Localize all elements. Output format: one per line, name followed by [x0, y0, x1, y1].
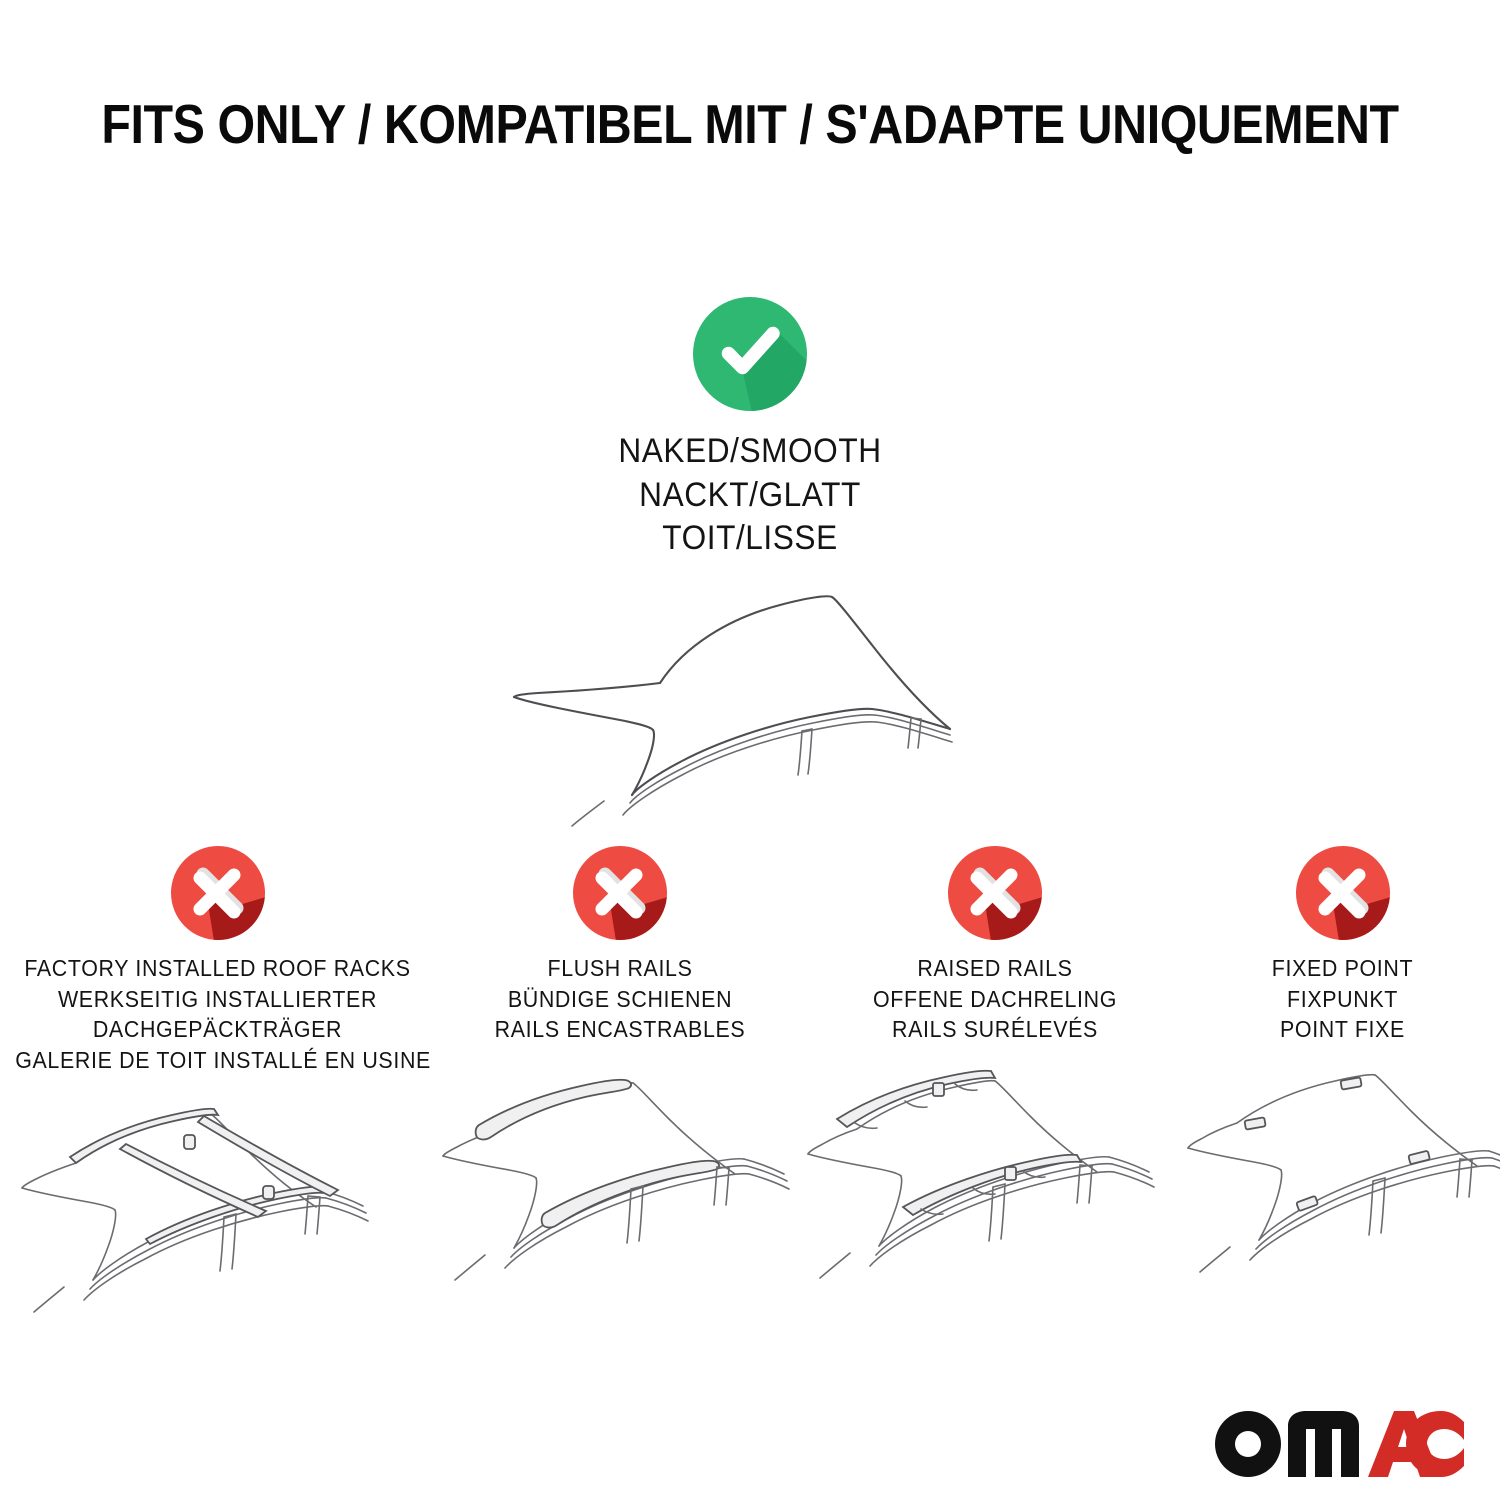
incompatible-label-de-2: DACHGEPÄCKTRÄGER	[15, 1014, 420, 1045]
raised-rails-illustration	[805, 1061, 1185, 1291]
naked-smooth-roof-illustration	[0, 583, 1500, 843]
omac-logo	[1208, 1398, 1470, 1480]
x-circle-icon	[947, 845, 1043, 941]
incompatible-item-flush-rails: FLUSH RAILS BÜNDIGE SCHIENEN RAILS ENCAS…	[435, 845, 805, 1291]
incompatible-label-fr: GALERIE DE TOIT INSTALLÉ EN USINE	[15, 1045, 420, 1076]
fixed-point-illustration	[1185, 1061, 1500, 1291]
compatible-section: NAKED/SMOOTH NACKT/GLATT TOIT/LISSE	[0, 296, 1500, 843]
factory-roof-rack-illustration	[0, 1091, 435, 1321]
check-circle-icon	[692, 296, 808, 412]
page-title: FITS ONLY / KOMPATIBEL MIT / S'ADAPTE UN…	[90, 96, 1410, 154]
incompatible-item-fixed-point: FIXED POINT FIXPUNKT POINT FIXE	[1185, 845, 1500, 1291]
incompatible-item-factory-racks: FACTORY INSTALLED ROOF RACKS WERKSEITIG …	[0, 845, 435, 1321]
incompatible-label-fr: RAILS SURÉLEVÉS	[818, 1014, 1171, 1045]
flush-rails-illustration	[435, 1061, 805, 1291]
compatible-label-fr: TOIT/LISSE	[53, 517, 1448, 561]
x-circle-icon	[1295, 845, 1391, 941]
incompatible-label-en: FLUSH RAILS	[448, 953, 792, 984]
incompatible-section: FACTORY INSTALLED ROOF RACKS WERKSEITIG …	[0, 845, 1500, 1321]
incompatible-label-de-1: WERKSEITIG INSTALLIERTER	[15, 984, 420, 1015]
page-header: FITS ONLY / KOMPATIBEL MIT / S'ADAPTE UN…	[0, 96, 1500, 154]
compatible-label-de: NACKT/GLATT	[53, 474, 1448, 518]
incompatible-item-raised-rails: RAISED RAILS OFFENE DACHRELING RAILS SUR…	[805, 845, 1185, 1291]
x-circle-icon	[170, 845, 266, 941]
incompatible-label-group: RAISED RAILS OFFENE DACHRELING RAILS SUR…	[818, 953, 1171, 1045]
incompatible-label-group: FACTORY INSTALLED ROOF RACKS WERKSEITIG …	[15, 953, 420, 1075]
incompatible-label-de: OFFENE DACHRELING	[818, 984, 1171, 1015]
compatible-label-en: NAKED/SMOOTH	[53, 430, 1448, 474]
incompatible-label-group: FLUSH RAILS BÜNDIGE SCHIENEN RAILS ENCAS…	[448, 953, 792, 1045]
incompatible-label-de: FIXPUNKT	[1196, 984, 1489, 1015]
incompatible-label-en: RAISED RAILS	[818, 953, 1171, 984]
incompatible-label-fr: RAILS ENCASTRABLES	[448, 1014, 792, 1045]
incompatible-label-en: FACTORY INSTALLED ROOF RACKS	[15, 953, 420, 984]
compatible-label-group: NAKED/SMOOTH NACKT/GLATT TOIT/LISSE	[53, 430, 1448, 561]
incompatible-label-fr: POINT FIXE	[1196, 1014, 1489, 1045]
x-circle-icon	[572, 845, 668, 941]
incompatible-label-de: BÜNDIGE SCHIENEN	[448, 984, 792, 1015]
incompatible-label-en: FIXED POINT	[1196, 953, 1489, 984]
incompatible-label-group: FIXED POINT FIXPUNKT POINT FIXE	[1196, 953, 1489, 1045]
